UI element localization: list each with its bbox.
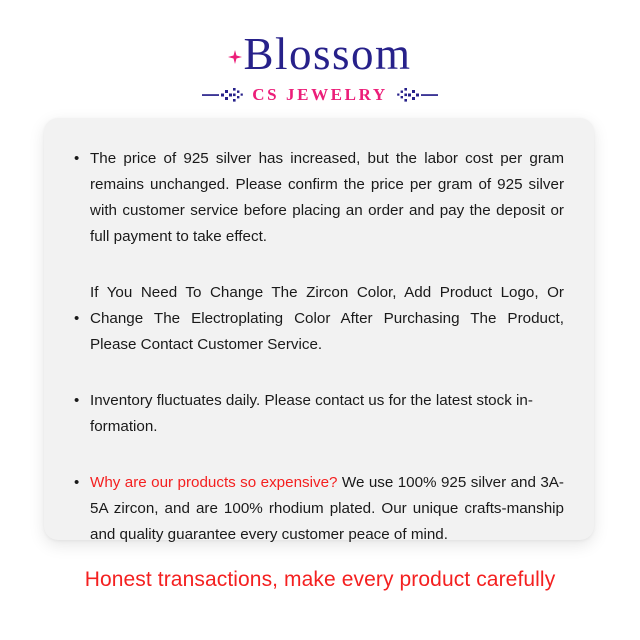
bullet-marker: • <box>74 146 90 172</box>
brand-subtitle-row: CS JEWELRY <box>0 85 640 105</box>
ornament-left-icon <box>202 87 246 103</box>
list-item: • Inventory fluctuates daily. Please con… <box>74 388 564 440</box>
list-item: • If You Need To Change The Zircon Color… <box>74 280 564 358</box>
footer-slogan: Honest transactions, make every product … <box>0 568 640 592</box>
bullet-marker: • <box>74 311 90 326</box>
list-item: • Why are our products so expensive? We … <box>74 470 564 548</box>
sparkle-icon <box>228 50 242 64</box>
bullet-marker: • <box>74 470 90 496</box>
bullet-marker: • <box>74 388 90 414</box>
list-item: • The price of 925 silver has increased,… <box>74 146 564 250</box>
bullet-text-price-notice: The price of 925 silver has increased, b… <box>90 146 564 250</box>
wordmark-row: Blossom <box>0 30 640 78</box>
bullet-text-pricing-explanation: Why are our products so expensive? We us… <box>90 470 564 548</box>
bullet-text-customization-notice: If You Need To Change The Zircon Color, … <box>90 280 564 358</box>
notice-bullet-list: • The price of 925 silver has increased,… <box>74 146 564 548</box>
brand-wordmark: Blossom <box>243 30 411 78</box>
ornament-right-icon <box>394 87 438 103</box>
bullet-text-inventory-notice: Inventory fluctuates daily. Please conta… <box>90 388 564 440</box>
notice-card: • The price of 925 silver has increased,… <box>44 118 594 540</box>
brand-header: Blossom CS JEWELRY <box>0 0 640 105</box>
emphasis-question: Why are our products so expensive? <box>90 474 337 491</box>
brand-subtitle: CS JEWELRY <box>252 85 387 105</box>
